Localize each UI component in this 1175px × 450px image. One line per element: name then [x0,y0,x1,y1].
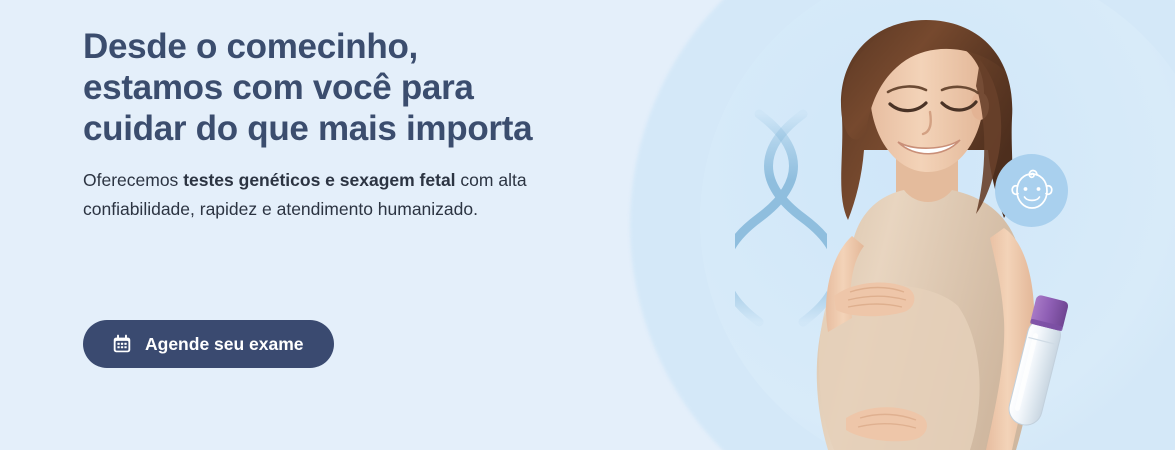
schedule-exam-button-label: Agende seu exame [145,334,304,355]
headline-line-1: Desde o comecinho, [83,26,623,67]
calendar-icon [111,333,133,355]
page-title: Desde o comecinho, estamos com você para… [83,26,623,149]
headline-line-3: cuidar do que mais importa [83,108,623,149]
subheading-text: Oferecemos testes genéticos e sexagem fe… [83,166,553,224]
schedule-exam-button[interactable]: Agende seu exame [83,320,334,368]
headline-line-2: estamos com você para [83,67,623,108]
baby-face-icon [995,154,1068,227]
copy-block: Desde o comecinho, estamos com você para… [83,26,623,224]
subcopy-before: Oferecemos [83,170,183,190]
promo-banner: Desde o comecinho, estamos com você para… [0,0,1175,450]
subcopy-highlight: testes genéticos e sexagem fetal [183,170,455,190]
blood-collection-tube-icon [995,288,1075,450]
